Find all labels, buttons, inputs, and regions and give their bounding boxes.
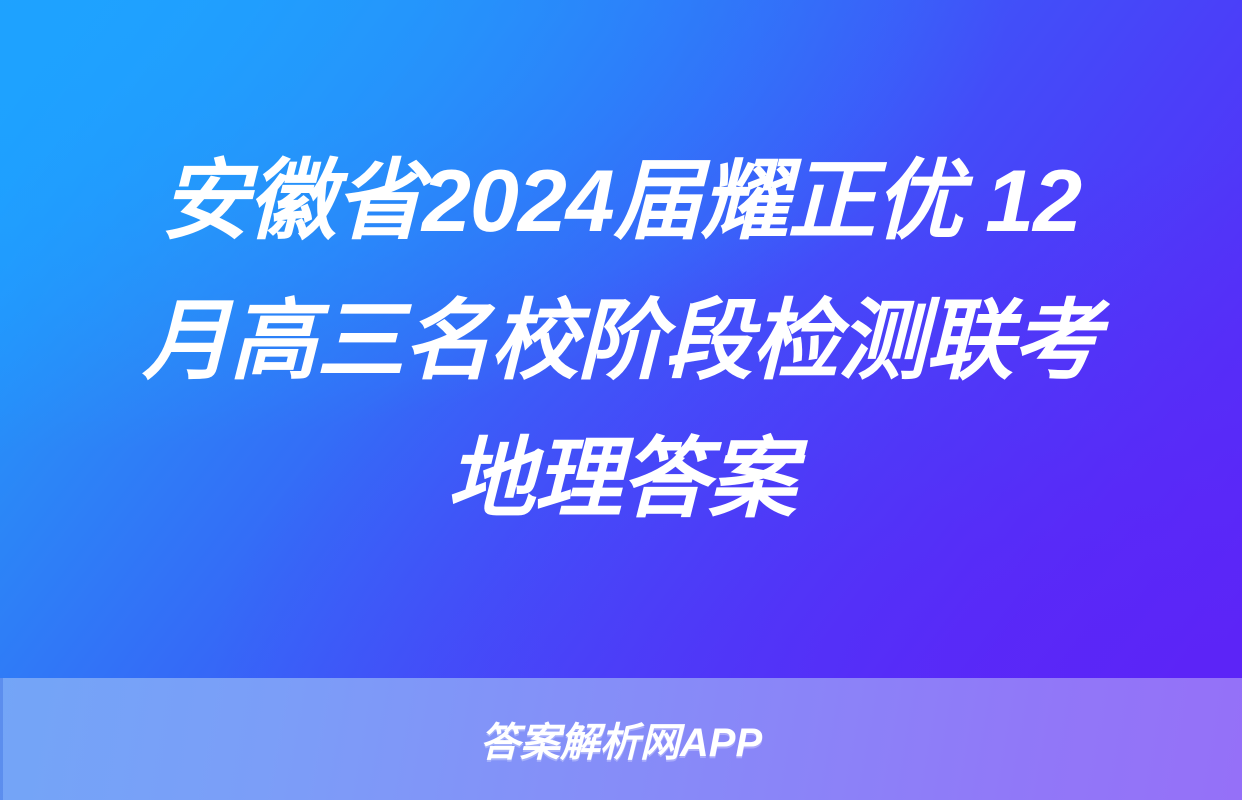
poster-canvas: 安徽省2024届耀正优 12 月高三名校阶段检测联考 地理答案 答案解析网APP	[0, 0, 1242, 800]
title-line-2: 月高三名校阶段检测联考	[142, 271, 1099, 411]
footer-brand-label: 答案解析网APP	[480, 710, 762, 768]
title-block: 安徽省2024届耀正优 12 月高三名校阶段检测联考 地理答案	[0, 0, 1242, 678]
title-line-1: 安徽省2024届耀正优 12	[161, 131, 1081, 271]
footer-brand-band: 答案解析网APP	[0, 678, 1242, 800]
title-line-3: 地理答案	[447, 411, 795, 547]
